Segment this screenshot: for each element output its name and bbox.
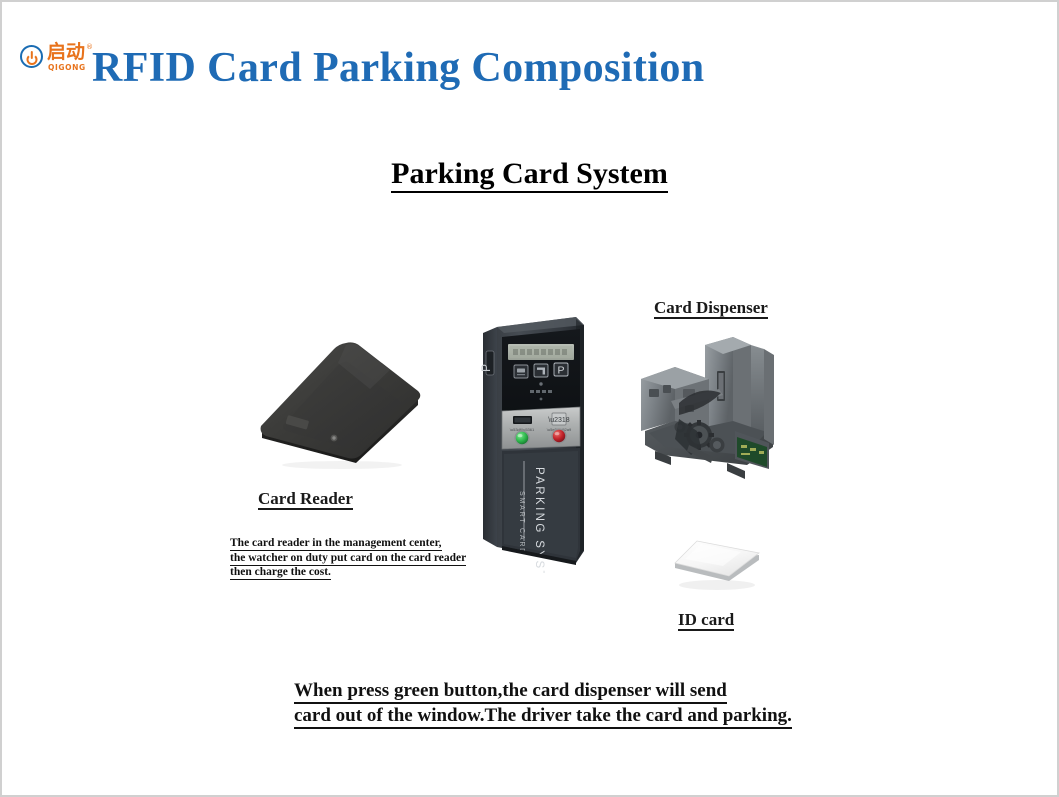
card-reader-description-line: then charge the cost. [230,567,331,580]
svg-text:\u2318: \u2318 [548,417,570,424]
white-blank-id-card-photo [667,529,767,599]
logo-latin-text: QIGONG [48,63,86,72]
page-title: RFID Card Parking Composition [92,44,704,92]
card-reader-description: The card reader in the management center… [230,538,466,582]
company-logo: 启动 ® QIGONG [20,42,92,74]
section-heading: Parking Card System [2,157,1057,191]
svg-text:P: P [557,364,564,376]
svg-text:P: P [480,364,493,372]
card-dispenser-caption: Card Dispenser [654,298,768,318]
card-dispenser-mechanism-photo [627,327,782,487]
power-circle-logo-icon [20,45,43,68]
parking-terminal-photo: P P [480,315,592,573]
id-card-caption-label: ID card [678,610,734,631]
red-button [553,430,565,442]
section-heading-label: Parking Card System [391,157,668,193]
id-card-caption: ID card [678,610,734,630]
logo-chinese-text: 启动 [47,42,85,63]
card-reader-caption-label: Card Reader [258,489,353,510]
green-button [516,432,528,444]
dispenser-instruction-text: When press green button,the card dispens… [294,680,792,730]
card-reader-description-line: The card reader in the management center… [230,538,442,551]
slide-header: 启动 ® QIGONG RFID Card Parking Compositio… [2,2,1057,112]
rfid-card-reader-photo [250,337,430,472]
dispenser-instruction-line: When press green button,the card dispens… [294,680,727,704]
card-reader-description-line: the watcher on duty put card on the card… [230,553,466,566]
card-reader-caption: Card Reader [258,489,353,509]
dispenser-instruction-line: card out of the window.The driver take t… [294,705,792,729]
slide-canvas: 启动 ® QIGONG RFID Card Parking Compositio… [0,0,1059,797]
card-dispenser-caption-label: Card Dispenser [654,298,768,319]
terminal-branding-secondary: SMART CARD [518,491,525,555]
